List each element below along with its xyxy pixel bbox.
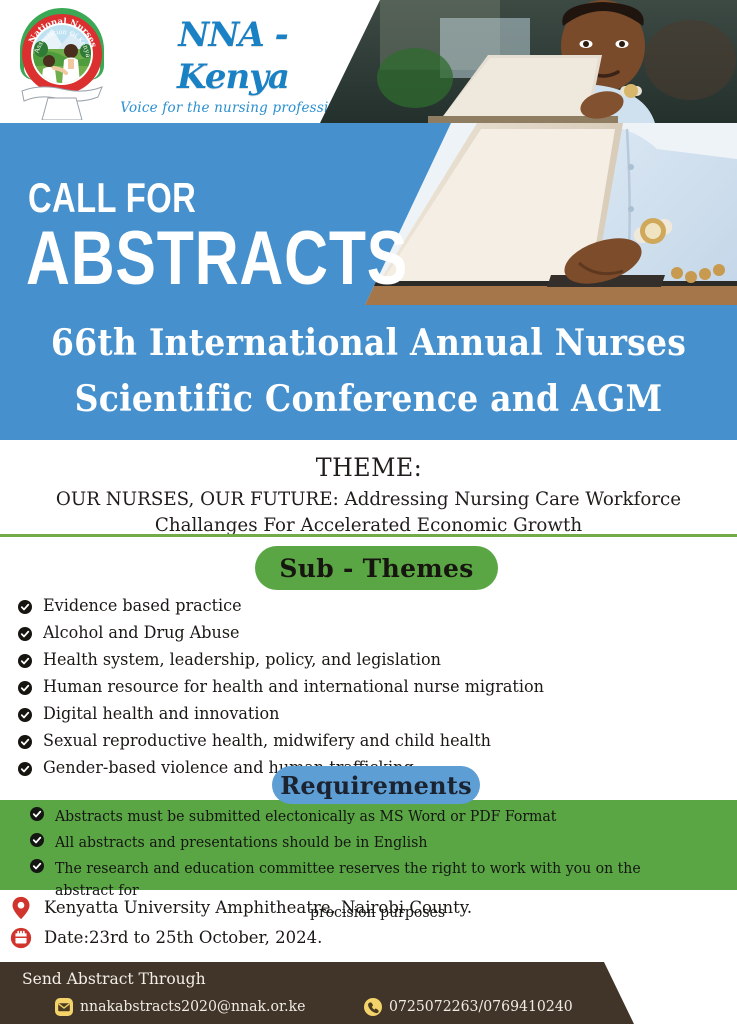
phone-text: 0725072263/0769410240 xyxy=(389,997,573,1017)
banner-headline: ABSTRACTS xyxy=(26,219,408,299)
brand-name: NNA - Kenya xyxy=(118,14,348,98)
list-item: Evidence based practice xyxy=(18,594,658,618)
requirement-line1: The research and education committee res… xyxy=(55,861,641,899)
sub-theme-label: Health system, leadership, policy, and l… xyxy=(43,648,441,672)
phone-contact[interactable]: 0725072263/0769410240 xyxy=(364,997,578,1017)
sub-themes-list: Evidence based practice Alcohol and Drug… xyxy=(18,594,658,783)
brand-wordmark: NNA - Kenya Voice for the nursing profes… xyxy=(118,14,348,118)
check-circle-icon xyxy=(30,859,44,873)
requirements-pill-label: Requirements xyxy=(280,771,472,800)
email-contact[interactable]: nnakabstracts2020@nnak.or.ke xyxy=(55,997,312,1017)
brand-tagline: Voice for the nursing profession xyxy=(118,98,348,118)
banner-kicker: CALL FOR xyxy=(28,176,196,220)
check-circle-icon xyxy=(30,833,44,847)
list-item: Human resource for health and internatio… xyxy=(18,675,658,699)
contact-row: nnakabstracts2020@nnak.or.ke 0725072263/… xyxy=(55,997,675,1017)
sub-theme-label: Sexual reproductive health, midwifery an… xyxy=(43,729,491,753)
sub-theme-label: Evidence based practice xyxy=(43,594,242,618)
sub-themes-pill-label: Sub - Themes xyxy=(279,554,473,583)
conference-title: 66th International Annual Nurses Scienti… xyxy=(29,315,707,427)
list-item: All abstracts and presentations should b… xyxy=(30,832,720,854)
list-item: Abstracts must be submitted electonicall… xyxy=(30,806,720,828)
email-text: nnakabstracts2020@nnak.or.ke xyxy=(80,997,305,1017)
phone-icon xyxy=(364,998,382,1016)
date-row: Date:23rd to 25th October, 2024. xyxy=(10,926,610,950)
sub-themes-pill: Sub - Themes xyxy=(255,546,498,590)
date-text: Date:23rd to 25th October, 2024. xyxy=(44,926,322,950)
requirement-line2: precision purposes xyxy=(55,902,700,924)
calendar-icon xyxy=(10,926,32,950)
conference-title-line2: Scientific Conference and AGM xyxy=(29,371,707,427)
check-circle-icon xyxy=(30,807,44,821)
theme-text: OUR NURSES, OUR FUTURE: Addressing Nursi… xyxy=(15,484,723,538)
man-working-on-laptop-photo xyxy=(320,0,737,123)
requirement-label-multiline: The research and education committee res… xyxy=(55,858,700,924)
list-item: Digital health and innovation xyxy=(18,702,658,726)
check-circle-icon xyxy=(18,681,32,695)
check-circle-icon xyxy=(18,600,32,614)
check-circle-icon xyxy=(18,762,32,776)
theme-label: THEME: xyxy=(315,452,421,484)
footer-title: Send Abstract Through xyxy=(22,968,206,990)
list-item: Health system, leadership, policy, and l… xyxy=(18,648,658,672)
envelope-icon xyxy=(55,998,73,1016)
conference-title-line1: 66th International Annual Nurses xyxy=(29,315,707,371)
requirements-list: Abstracts must be submitted electonicall… xyxy=(30,806,720,928)
requirements-pill: Requirements xyxy=(272,766,480,804)
crest-icon: National Nurses Association Of Kenya xyxy=(8,2,116,120)
poster-header: National Nurses Association Of Kenya NNA… xyxy=(0,0,737,123)
check-circle-icon xyxy=(18,708,32,722)
requirement-label: Abstracts must be submitted electonicall… xyxy=(55,806,556,828)
check-circle-icon xyxy=(18,654,32,668)
list-item: Alcohol and Drug Abuse xyxy=(18,621,658,645)
sub-theme-label: Human resource for health and internatio… xyxy=(43,675,544,699)
header-photo xyxy=(320,0,737,123)
location-pin-icon xyxy=(10,896,32,920)
theme-block: THEME: OUR NURSES, OUR FUTURE: Addressin… xyxy=(0,452,737,538)
list-item: The research and education committee res… xyxy=(30,858,720,924)
requirement-label: All abstracts and presentations should b… xyxy=(55,832,427,854)
section-divider xyxy=(0,534,737,537)
sub-theme-label: Alcohol and Drug Abuse xyxy=(43,621,240,645)
sub-theme-label: Digital health and innovation xyxy=(43,702,279,726)
list-item: Sexual reproductive health, midwifery an… xyxy=(18,729,658,753)
check-circle-icon xyxy=(18,735,32,749)
nnak-crest-logo: National Nurses Association Of Kenya xyxy=(8,2,116,120)
check-circle-icon xyxy=(18,627,32,641)
